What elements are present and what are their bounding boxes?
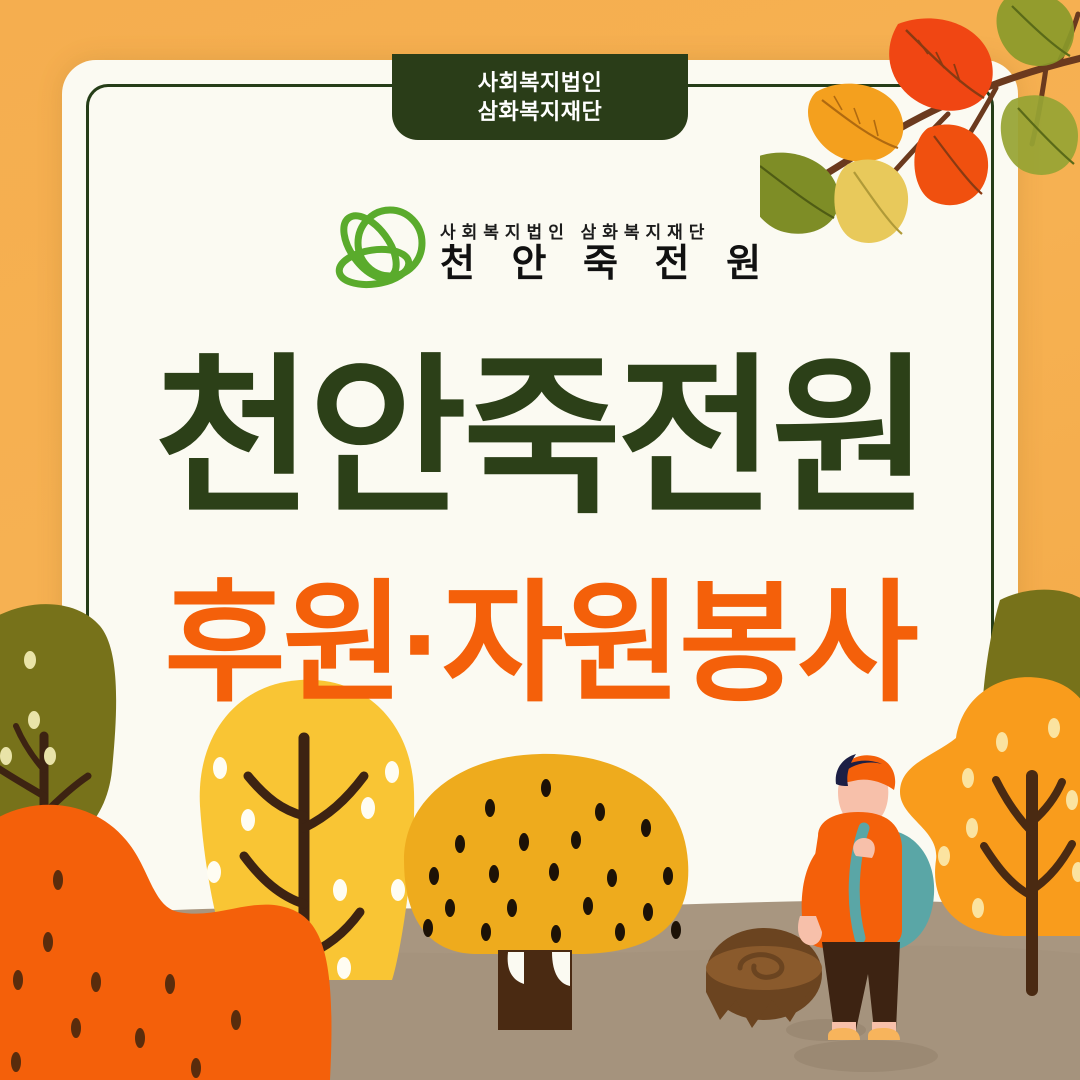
page-title: 천안죽전원	[0, 352, 1080, 524]
logo-subtitle: 사회복지법인 삼화복지재단	[440, 218, 774, 243]
autumn-branch-decoration	[760, 0, 1080, 284]
badge-line-2: 삼화복지재단	[478, 97, 602, 126]
badge-line-1: 사회복지법인	[478, 68, 602, 97]
organization-logo: 사회복지법인 삼화복지재단 천 안 죽 전 원	[330, 198, 770, 302]
logo-title: 천 안 죽 전 원	[440, 245, 774, 283]
logo-text-block: 사회복지법인 삼화복지재단 천 안 죽 전 원	[440, 218, 774, 283]
poster-canvas: 사회복지법인 삼화복지재단 사회복지법인 삼화복지재단 천 안 죽 전 원 천안…	[0, 0, 1080, 1080]
organization-badge: 사회복지법인 삼화복지재단	[392, 54, 688, 140]
page-subtitle: 후원·자원봉사	[0, 578, 1080, 710]
logo-circles-icon	[330, 203, 426, 297]
